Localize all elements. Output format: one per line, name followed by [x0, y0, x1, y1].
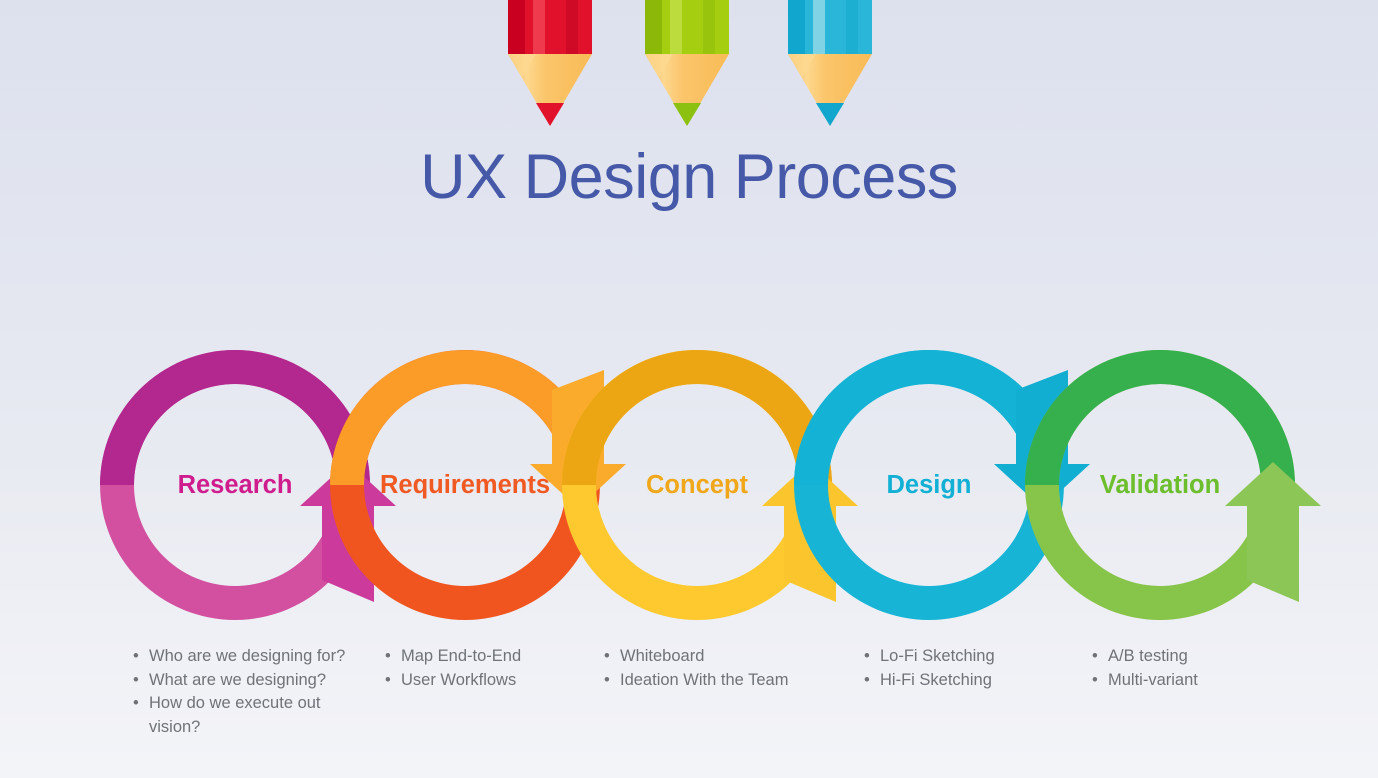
page-title: UX Design Process: [0, 142, 1378, 213]
concept-bullet-list: •Whiteboard •Ideation With the Team: [604, 645, 854, 692]
requirements-bullet-list: •Map End-to-End •User Workflows: [385, 645, 600, 692]
stage-ring-validation[interactable]: Validation: [1025, 350, 1321, 620]
bullet-marker: •: [133, 692, 139, 716]
cyan-pencil: [788, 0, 872, 126]
list-item-text: Map End-to-End: [401, 647, 521, 665]
cyan-pencil-body-shade-right: [846, 0, 858, 54]
research-ring-label: Research: [178, 471, 293, 499]
list-item: •Hi-Fi Sketching: [864, 669, 1089, 693]
list-item: •What are we designing?: [133, 669, 368, 693]
list-item-text: Ideation With the Team: [620, 671, 788, 689]
bullet-marker: •: [604, 645, 610, 669]
list-item-text: Hi-Fi Sketching: [880, 671, 992, 689]
list-item: •User Workflows: [385, 669, 600, 693]
list-item-text: Lo-Fi Sketching: [880, 647, 995, 665]
bullet-marker: •: [864, 645, 870, 669]
design-bullet-list: •Lo-Fi Sketching •Hi-Fi Sketching: [864, 645, 1089, 692]
bullet-marker: •: [864, 669, 870, 693]
green-pencil: [645, 0, 729, 126]
cyan-pencil-body-highlight: [813, 0, 825, 54]
research-ring-top: [100, 350, 370, 485]
list-item: •How do we execute out vision?: [133, 692, 368, 739]
cyan-pencil-body-shade-left: [788, 0, 805, 54]
requirements-ring-label: Requirements: [380, 471, 550, 499]
stage-detail-lists: •Who are we designing for? •What are we …: [0, 645, 1378, 778]
cyan-pencil-tip: [816, 103, 844, 126]
list-item-text: A/B testing: [1108, 647, 1188, 665]
list-item-text: Multi-variant: [1108, 671, 1198, 689]
green-pencil-body-shade-right: [703, 0, 715, 54]
slide-canvas: UX Design Process Research Requirements …: [0, 0, 1378, 778]
validation-ring-label: Validation: [1100, 471, 1220, 499]
green-pencil-tip: [673, 103, 701, 126]
bullet-marker: •: [133, 645, 139, 669]
list-item-text: Whiteboard: [620, 647, 704, 665]
list-item: •Multi-variant: [1092, 669, 1307, 693]
list-item: •Lo-Fi Sketching: [864, 645, 1089, 669]
bullet-column-design: •Lo-Fi Sketching •Hi-Fi Sketching: [864, 645, 1089, 692]
concept-ring-label: Concept: [646, 471, 749, 499]
bullet-marker: •: [385, 669, 391, 693]
bullet-column-research: •Who are we designing for? •What are we …: [133, 645, 368, 739]
list-item-text: Who are we designing for?: [149, 647, 345, 665]
red-pencil-tip: [536, 103, 564, 126]
list-item: •Whiteboard: [604, 645, 854, 669]
bullet-column-requirements: •Map End-to-End •User Workflows: [385, 645, 600, 692]
bullet-marker: •: [385, 645, 391, 669]
list-item: •A/B testing: [1092, 645, 1307, 669]
list-item: •Map End-to-End: [385, 645, 600, 669]
red-pencil-body-highlight: [533, 0, 545, 54]
process-ring-diagram: Research Requirements Concept Design: [0, 330, 1378, 650]
design-ring-label: Design: [886, 471, 971, 499]
validation-bullet-list: •A/B testing •Multi-variant: [1092, 645, 1307, 692]
bullet-column-concept: •Whiteboard •Ideation With the Team: [604, 645, 854, 692]
bullet-marker: •: [1092, 669, 1098, 693]
red-pencil-body-shade-right: [566, 0, 578, 54]
green-pencil-body-shade-left: [645, 0, 662, 54]
pencil-illustration-group: [0, 0, 1378, 140]
red-pencil: [508, 0, 592, 126]
list-item-text: What are we designing?: [149, 671, 326, 689]
list-item-text: User Workflows: [401, 671, 516, 689]
bullet-column-validation: •A/B testing •Multi-variant: [1092, 645, 1307, 692]
bullet-marker: •: [133, 669, 139, 693]
list-item: •Ideation With the Team: [604, 669, 854, 693]
green-pencil-body-highlight: [670, 0, 682, 54]
bullet-marker: •: [604, 669, 610, 693]
red-pencil-body-shade-left: [508, 0, 525, 54]
bullet-marker: •: [1092, 645, 1098, 669]
list-item: •Who are we designing for?: [133, 645, 368, 669]
list-item-text: How do we execute out vision?: [149, 694, 321, 736]
research-bullet-list: •Who are we designing for? •What are we …: [133, 645, 368, 739]
